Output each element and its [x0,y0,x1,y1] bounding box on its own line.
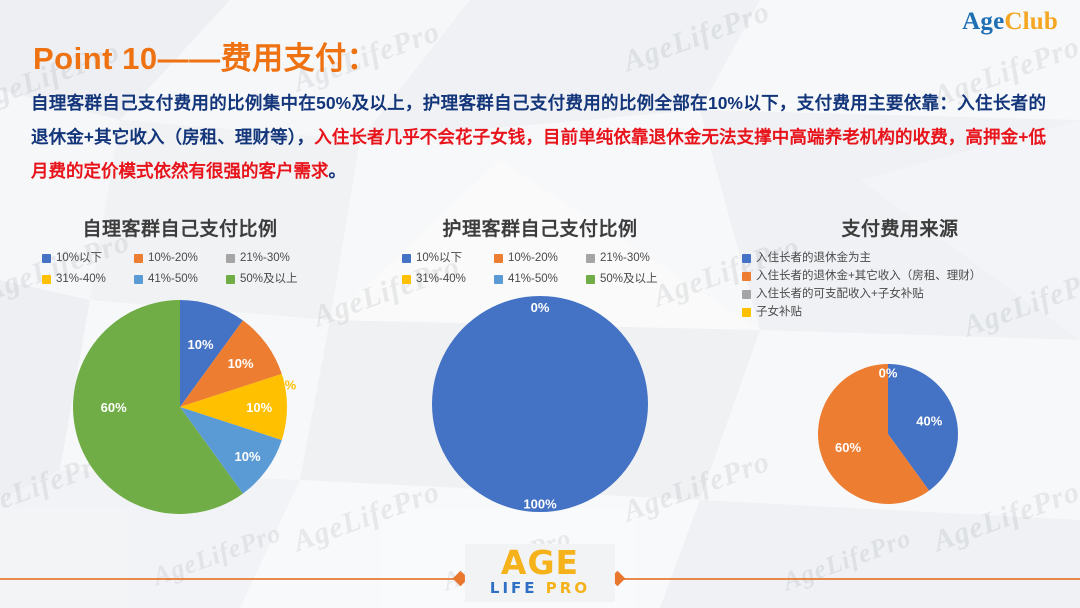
legend-label: 10%-20% [148,250,198,267]
legend-item[interactable]: 41%-50% [134,271,226,288]
legend-item[interactable]: 10%-20% [134,250,226,267]
pie-data-label: 10% [187,337,213,352]
legend-swatch-icon [134,275,143,284]
chart-legend: 10%以下10%-20%21%-30%31%-40%41%-50%50%及以上 [40,250,320,292]
pie-chart-nursing: 0%100% [360,292,720,522]
pie-svg: 0%100% [360,292,720,522]
legend-swatch-icon [402,254,411,263]
legend-label: 入住长者的退休金为主 [756,250,871,267]
pie-chart-fee-source: 0%40%60% [720,322,1080,552]
footer-logo-lifepro: LIFE PRO [490,581,590,596]
legend-swatch-icon [586,275,595,284]
footer: AGE LIFE PRO [0,546,1080,608]
legend-item[interactable]: 10%以下 [402,250,494,267]
pie-svg: 10%10%0%10%10%60% [0,292,360,522]
footer-logo-age: AGE [490,546,590,579]
legend-label: 41%-50% [508,271,558,288]
pie-data-label: 0% [277,377,296,392]
ageclub-logo: AgeClub [962,8,1058,36]
chart-panel-fee-source: 支付费用来源 入住长者的退休金为主入住长者的退休金+其它收入（房租、理财）入住长… [720,208,1080,548]
pie-data-label: 60% [835,440,861,455]
legend-label: 21%-30% [600,250,650,267]
legend-swatch-icon [134,254,143,263]
pie-data-label: 0% [879,365,898,380]
legend-item[interactable]: 31%-40% [42,271,134,288]
legend-label: 31%-40% [56,271,106,288]
legend-item[interactable]: 子女补贴 [742,304,802,321]
pie-data-label: 60% [101,400,127,415]
footer-logo-pro: PRO [546,579,590,597]
charts-row: 自理客群自己支付比例 10%以下10%-20%21%-30%31%-40%41%… [0,208,1080,548]
summary-text-period: 。 [329,161,347,181]
legend-swatch-icon [42,254,51,263]
summary-paragraph: 自理客群自己支付费用的比例集中在50%及以上，护理客群自己支付费用的比例全部在1… [31,86,1046,188]
legend-item[interactable]: 入住长者的退休金为主 [742,250,871,267]
legend-label: 10%以下 [56,250,102,267]
legend-item[interactable]: 50%及以上 [226,271,318,288]
legend-swatch-icon [742,254,751,263]
footer-logo-life: LIFE [490,579,538,597]
legend-swatch-icon [226,254,235,263]
logo-club-text: Club [1004,8,1058,35]
legend-item[interactable]: 10%-20% [494,250,586,267]
legend-label: 50%及以上 [240,271,298,288]
legend-label: 子女补贴 [756,304,802,321]
legend-label: 10%以下 [416,250,462,267]
legend-swatch-icon [742,290,751,299]
legend-item[interactable]: 入住长者的可支配收入+子女补贴 [742,286,924,303]
legend-swatch-icon [42,275,51,284]
legend-item[interactable]: 21%-30% [226,250,318,267]
legend-label: 50%及以上 [600,271,658,288]
pie-data-label: 10% [228,356,254,371]
agelifepro-logo: AGE LIFE PRO [490,546,590,596]
legend-label: 入住长者的退休金+其它收入（房租、理财） [756,268,981,285]
legend-label: 41%-50% [148,271,198,288]
legend-swatch-icon [586,254,595,263]
pie-slice[interactable] [432,296,648,512]
legend-label: 10%-20% [508,250,558,267]
page-title: Point 10——费用支付： [33,33,378,78]
chart-legend: 入住长者的退休金为主入住长者的退休金+其它收入（房租、理财）入住长者的可支配收入… [742,250,1012,322]
legend-swatch-icon [742,308,751,317]
legend-item[interactable]: 50%及以上 [586,271,678,288]
legend-item[interactable]: 10%以下 [42,250,134,267]
legend-swatch-icon [742,272,751,281]
legend-label: 21%-30% [240,250,290,267]
pie-data-label: 0% [531,300,550,315]
legend-swatch-icon [494,275,503,284]
pie-data-label: 40% [916,414,942,429]
legend-swatch-icon [402,275,411,284]
legend-item[interactable]: 31%-40% [402,271,494,288]
legend-swatch-icon [226,275,235,284]
pie-svg: 0%40%60% [720,322,1080,552]
legend-item[interactable]: 21%-30% [586,250,678,267]
pie-data-label: 100% [523,496,557,511]
chart-title: 自理客群自己支付比例 [0,214,360,241]
legend-item[interactable]: 入住长者的退休金+其它收入（房租、理财） [742,268,981,285]
logo-age-text: Age [962,8,1004,35]
chart-title: 护理客群自己支付比例 [360,214,720,241]
pie-data-label: 10% [235,449,261,464]
pie-data-label: 10% [246,400,272,415]
chart-title: 支付费用来源 [720,214,1080,241]
legend-label: 31%-40% [416,271,466,288]
chart-legend: 10%以下10%-20%21%-30%31%-40%41%-50%50%及以上 [400,250,680,292]
legend-label: 入住长者的可支配收入+子女补贴 [756,286,924,303]
legend-item[interactable]: 41%-50% [494,271,586,288]
chart-panel-nursing: 护理客群自己支付比例 10%以下10%-20%21%-30%31%-40%41%… [360,208,720,548]
chart-panel-self-care: 自理客群自己支付比例 10%以下10%-20%21%-30%31%-40%41%… [0,208,360,548]
pie-chart-self-care: 10%10%0%10%10%60% [0,292,360,522]
legend-swatch-icon [494,254,503,263]
